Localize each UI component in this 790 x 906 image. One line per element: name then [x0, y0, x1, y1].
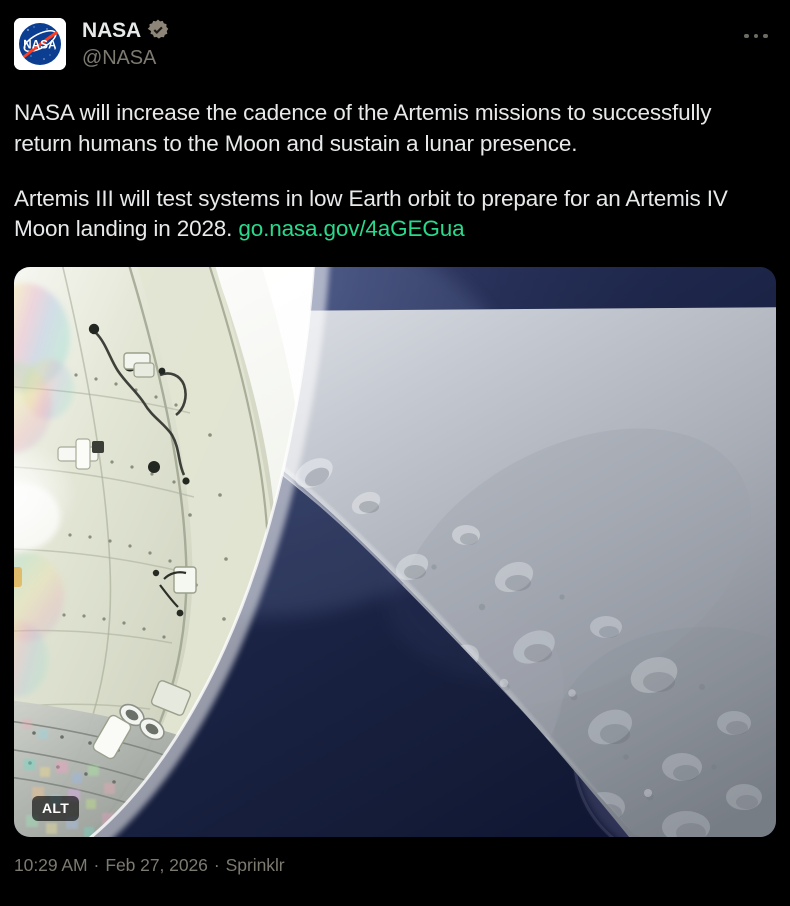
tweet-footer: 10:29 AM · Feb 27, 2026 · Sprinklr — [14, 855, 776, 876]
svg-text:NASA: NASA — [23, 40, 56, 52]
tweet-header: NASA NASA @NASA — [14, 14, 776, 76]
tweet-media[interactable]: ALT — [14, 267, 776, 837]
tweet-source[interactable]: Sprinklr — [226, 855, 285, 876]
verified-badge-icon[interactable] — [147, 19, 169, 41]
ellipsis-horizontal-icon[interactable] — [736, 22, 776, 50]
tweet-text: NASA will increase the cadence of the Ar… — [14, 98, 776, 245]
display-name-row: NASA — [82, 19, 169, 41]
tweet-paragraph-1: NASA will increase the cadence of the Ar… — [14, 98, 764, 160]
account-handle[interactable]: @NASA — [82, 48, 169, 68]
alt-badge[interactable]: ALT — [32, 796, 79, 821]
more-dot — [744, 34, 749, 39]
tweet-date: Feb 27, 2026 — [105, 855, 208, 876]
display-name[interactable]: NASA — [82, 20, 141, 41]
paragraph-spacer — [14, 160, 764, 184]
tweet-link[interactable]: go.nasa.gov/4aGEGua — [238, 216, 464, 241]
orion-moon-photo — [14, 267, 776, 837]
avatar[interactable]: NASA — [14, 18, 66, 70]
footer-separator: · — [208, 855, 226, 876]
account-identity: NASA @NASA — [82, 18, 169, 68]
more-dot — [754, 34, 759, 39]
tweet-time: 10:29 AM — [14, 855, 88, 876]
tweet-paragraph-2: Artemis III will test systems in low Ear… — [14, 184, 764, 246]
footer-separator: · — [88, 855, 106, 876]
more-dot — [763, 34, 768, 39]
tweet-card: NASA NASA @NASA NASA will in — [0, 0, 790, 906]
